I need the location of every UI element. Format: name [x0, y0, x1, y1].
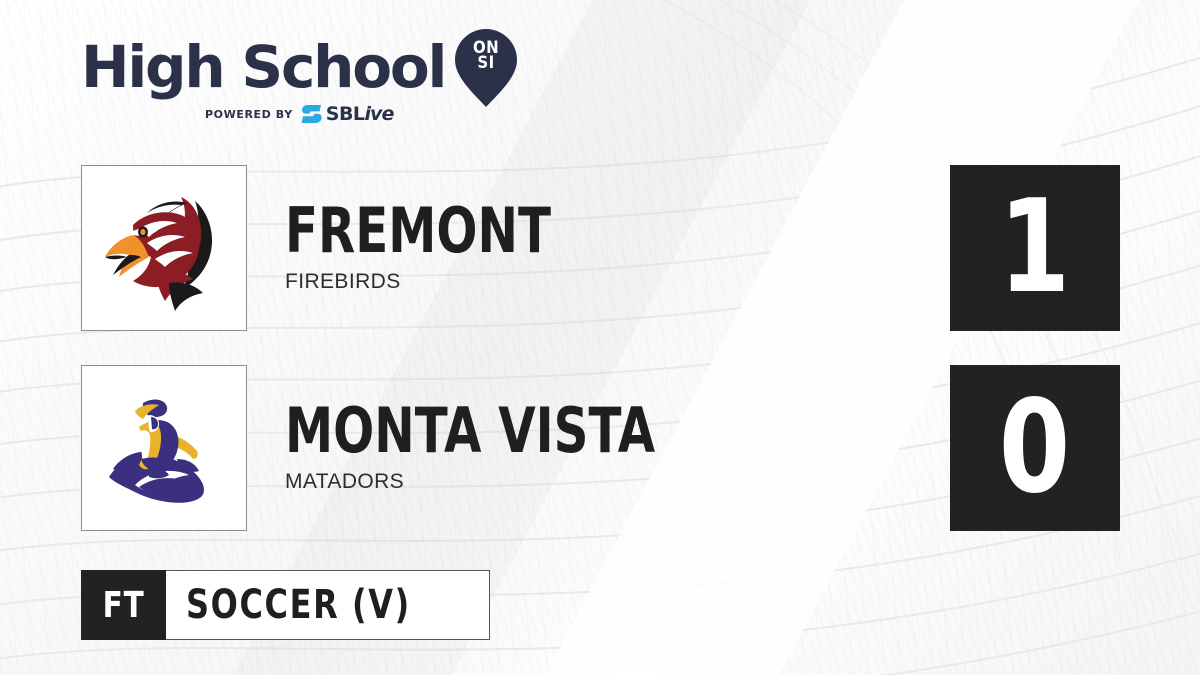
- game-status-bar: FT SOCCER (V): [81, 570, 490, 640]
- pin-line-si: SI: [478, 53, 495, 73]
- team-score: 0: [999, 384, 1070, 512]
- team-name: FREMONT: [285, 202, 551, 259]
- team-mascot: FIREBIRDS: [285, 270, 626, 294]
- team-logo-box: [81, 165, 247, 331]
- team-info: FREMONT FIREBIRDS: [285, 165, 626, 331]
- team-name: MONTA VISTA: [285, 402, 655, 459]
- sblive-logo: SBLive: [301, 104, 394, 124]
- status-period-block: FT: [81, 570, 166, 640]
- sblive-ive: ive: [365, 103, 394, 125]
- team-row: FREMONT FIREBIRDS 1: [81, 165, 1120, 333]
- status-sport-block: SOCCER (V): [166, 570, 490, 640]
- powered-by-row: POWERED BY SBLive: [205, 104, 511, 124]
- brand-lockup: High School ON SI POWERED BY SBLive: [81, 36, 511, 132]
- team-score-box: 0: [950, 365, 1120, 531]
- matador-logo-icon: [101, 385, 227, 511]
- sblive-s-icon: [301, 104, 323, 124]
- status-sport-label: SOCCER (V): [186, 582, 411, 628]
- sblive-sbl: SBL: [326, 103, 365, 125]
- on-si-pin-label: ON SI: [459, 41, 514, 71]
- team-mascot: MATADORS: [285, 470, 760, 494]
- team-logo-box: [81, 365, 247, 531]
- brand-title: High School: [81, 38, 445, 96]
- team-score-box: 1: [950, 165, 1120, 331]
- status-period-label: FT: [103, 585, 145, 626]
- sblive-wordmark: SBLive: [326, 105, 394, 124]
- team-row: MONTA VISTA MATADORS 0: [81, 365, 1120, 533]
- team-info: MONTA VISTA MATADORS: [285, 365, 760, 531]
- team-score: 1: [999, 184, 1070, 312]
- powered-by-label: POWERED BY: [205, 108, 293, 121]
- on-si-pin-icon: ON SI: [455, 29, 517, 107]
- firebird-head-logo-icon: [101, 185, 227, 311]
- score-graphic: High School ON SI POWERED BY SBLive: [0, 0, 1200, 675]
- brand-wordmark: High School ON SI: [81, 36, 511, 98]
